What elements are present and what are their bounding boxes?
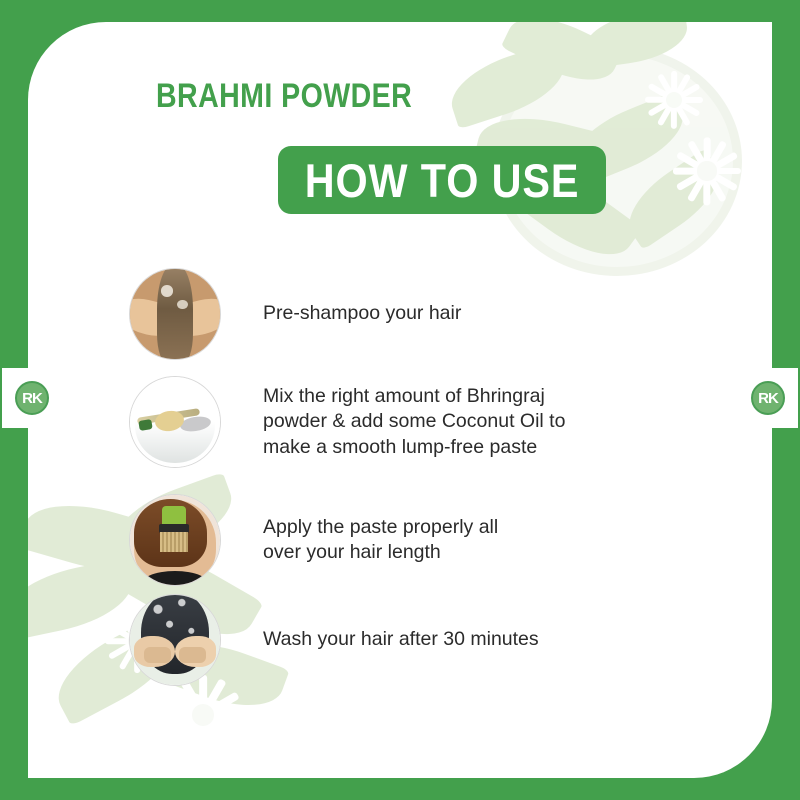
list-item: Mix the right amount of Bhringraj powder… [129,376,565,468]
brush-application-thumbnail [129,494,221,586]
mixing-bowl-thumbnail [129,376,221,468]
list-item: Apply the paste properly all over your h… [129,494,498,586]
washing-hair-thumbnail [129,594,221,686]
brand-monogram-label: RK [22,391,42,406]
content-card: BRAHMI POWDER HOW TO USE Pre-shampoo you… [28,22,772,778]
brand-badge-right: RK [738,368,798,428]
brand-monogram-icon: RK [751,381,785,415]
brand-monogram-icon: RK [15,381,49,415]
list-item: Pre-shampoo your hair [129,268,461,360]
shampoo-hair-thumbnail [129,268,221,360]
step-text: Pre-shampoo your hair [263,301,461,327]
step-text: Mix the right amount of Bhringraj powder… [263,384,565,461]
list-item: Wash your hair after 30 minutes [129,594,539,686]
step-text: Wash your hair after 30 minutes [263,627,539,653]
step-text: Apply the paste properly all over your h… [263,515,498,566]
brand-badge-left: RK [2,368,62,428]
brand-monogram-label: RK [758,391,778,406]
steps-list: Pre-shampoo your hair Mix the right amou… [28,22,772,778]
